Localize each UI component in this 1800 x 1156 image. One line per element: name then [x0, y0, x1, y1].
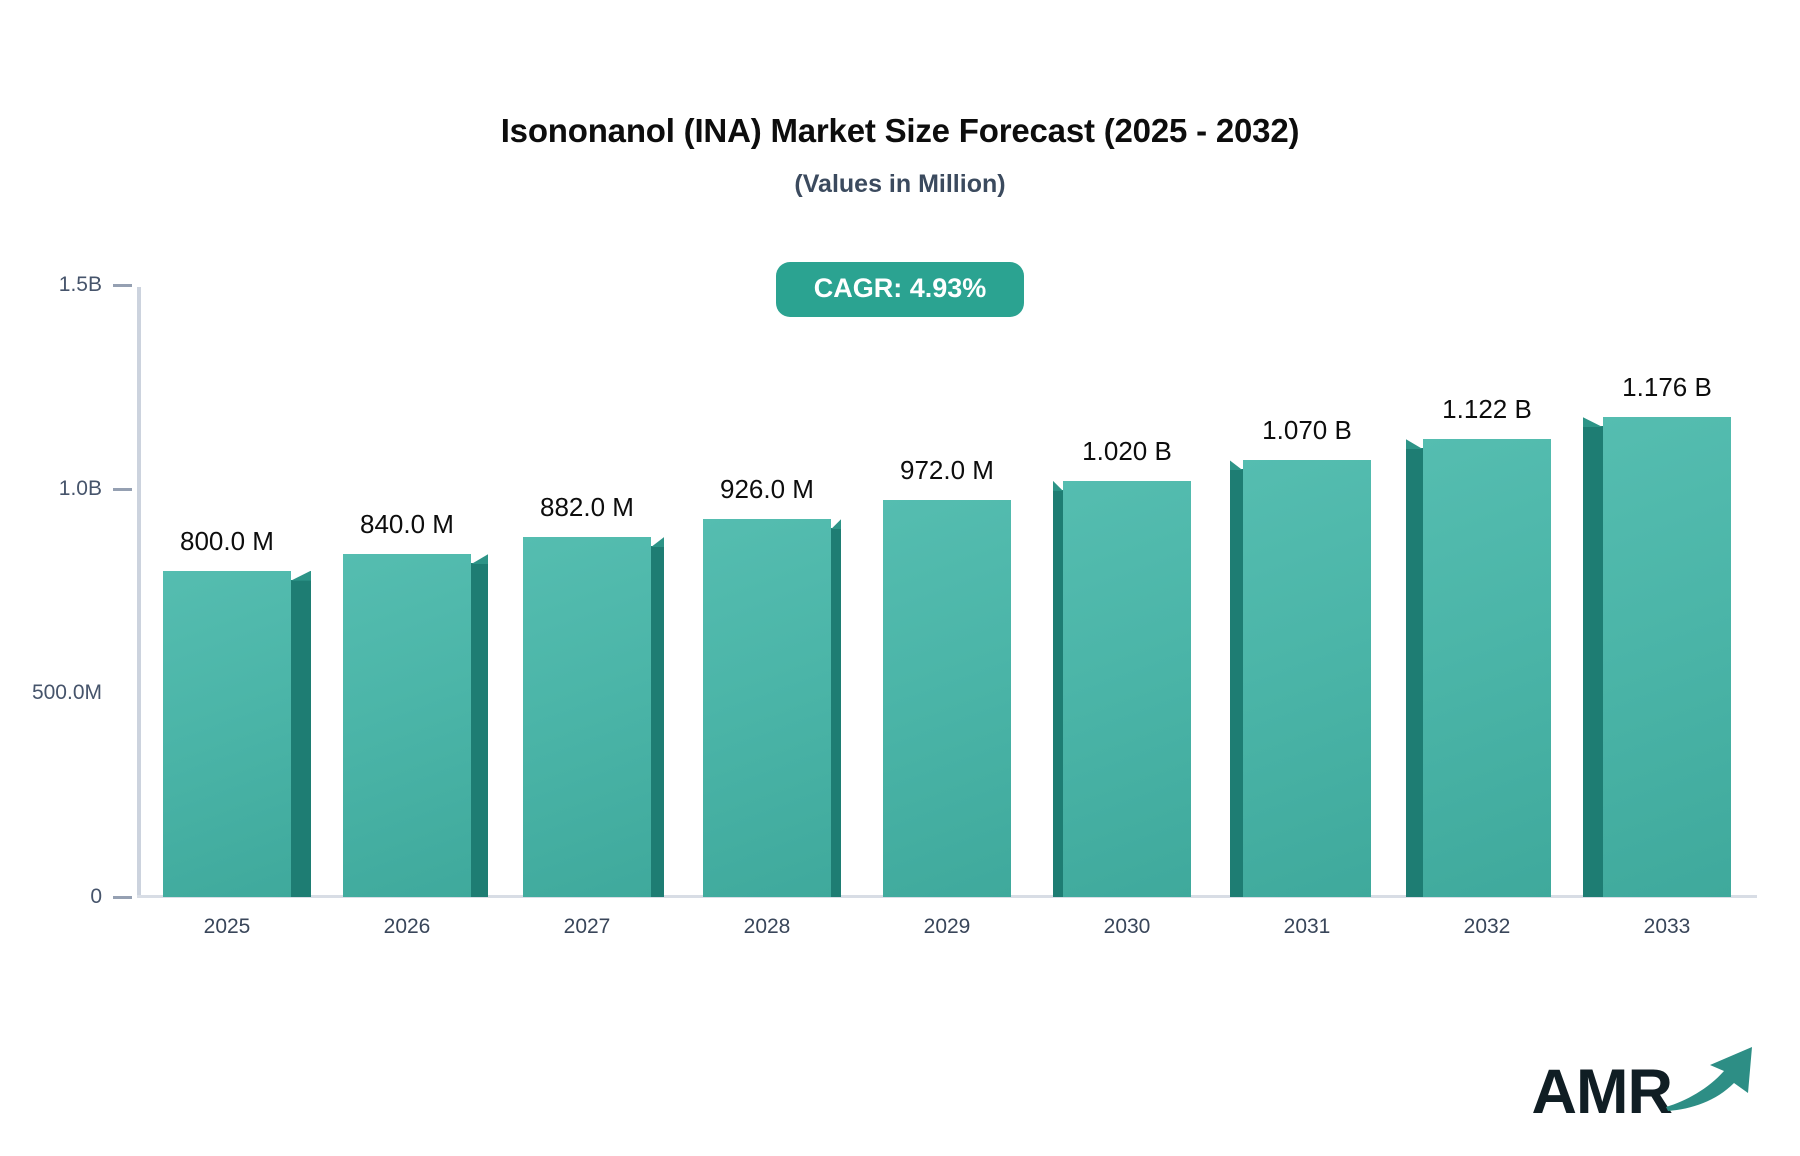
y-axis-tick: 1.5B [10, 274, 132, 296]
amr-logo: AMR [1532, 1034, 1760, 1124]
x-axis-label: 2028 [697, 915, 837, 939]
bar-side-face [471, 563, 488, 897]
x-axis-label: 2030 [1057, 915, 1197, 939]
bar-slot: 1.020 B [1063, 285, 1191, 897]
bar-slot: 1.176 B [1603, 285, 1731, 897]
x-axis-label: 2029 [877, 915, 1017, 939]
y-axis-tick-label: 500.0M [10, 681, 102, 705]
x-axis-label: 2033 [1597, 915, 1737, 939]
y-axis-tick-label: 0 [10, 885, 102, 909]
bar-top-face [291, 571, 311, 581]
bar[interactable]: 840.0 M [343, 554, 471, 897]
chart-subtitle: (Values in Million) [0, 170, 1800, 199]
y-axis-tick-label: 1.0B [10, 477, 102, 501]
x-axis-label: 2025 [157, 915, 297, 939]
bar-top-face [831, 519, 841, 529]
x-axis-label: 2027 [517, 915, 657, 939]
bar-slot: 972.0 M [883, 285, 1011, 897]
bar-front-face [1063, 481, 1191, 897]
y-axis-tick-label: 1.5B [10, 273, 102, 297]
amr-logo-text: AMR [1532, 1061, 1672, 1124]
y-axis-tick: 1.0B [10, 478, 132, 500]
bar-side-face [1230, 469, 1243, 897]
bar-side-face [1406, 448, 1423, 897]
bar-slot: 926.0 M [703, 285, 831, 897]
y-axis-tick: 0 [10, 886, 132, 908]
bar[interactable]: 1.020 B [1063, 481, 1191, 897]
growth-arrow-icon [1664, 1039, 1760, 1118]
bar-side-face [831, 528, 841, 897]
bar[interactable]: 882.0 M [523, 537, 651, 897]
bar-front-face [343, 554, 471, 897]
bar[interactable]: 800.0 M [163, 571, 291, 897]
bar-front-face [523, 537, 651, 897]
x-axis-label: 2031 [1237, 915, 1377, 939]
bar-series: 800.0 M840.0 M882.0 M926.0 M972.0 M1.020… [137, 285, 1757, 897]
bar-top-face [651, 537, 664, 547]
bar-front-face [163, 571, 291, 897]
bar[interactable]: 1.122 B [1423, 439, 1551, 897]
chart-canvas: Isononanol (INA) Market Size Forecast (2… [0, 0, 1800, 1156]
x-axis-label: 2026 [337, 915, 477, 939]
bar[interactable]: 972.0 M [883, 500, 1011, 897]
bar-front-face [883, 500, 1011, 897]
bar-front-face [1243, 460, 1371, 897]
y-axis-tick-mark [113, 284, 132, 287]
bar-front-face [703, 519, 831, 897]
bar-side-face [1053, 490, 1063, 897]
bar-slot: 840.0 M [343, 285, 471, 897]
bar-value-label: 1.176 B [1543, 372, 1791, 403]
bar-slot: 1.122 B [1423, 285, 1551, 897]
bar[interactable]: 1.176 B [1603, 417, 1731, 897]
bar-front-face [1603, 417, 1731, 897]
x-axis-label: 2032 [1417, 915, 1557, 939]
bar-slot: 800.0 M [163, 285, 291, 897]
y-axis-tick-mark [113, 488, 132, 491]
bar-slot: 1.070 B [1243, 285, 1371, 897]
bar-front-face [1423, 439, 1551, 897]
bar-side-face [291, 580, 311, 897]
bar-side-face [651, 546, 664, 897]
y-axis-tick-mark [113, 896, 132, 899]
bar[interactable]: 1.070 B [1243, 460, 1371, 897]
y-axis-tick: 500.0M [10, 682, 102, 704]
bar[interactable]: 926.0 M [703, 519, 831, 897]
bar-side-face [1583, 426, 1603, 897]
bar-slot: 882.0 M [523, 285, 651, 897]
chart-title: Isononanol (INA) Market Size Forecast (2… [0, 112, 1800, 150]
